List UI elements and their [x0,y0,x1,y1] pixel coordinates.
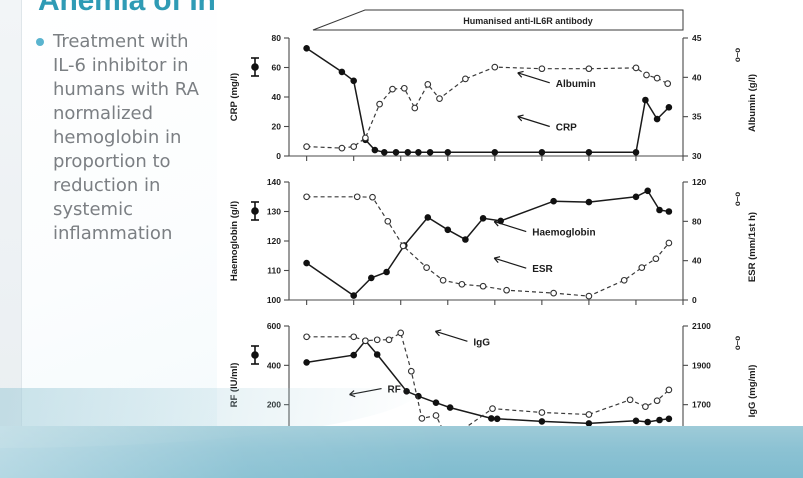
data-point-haemoglobin [657,207,663,213]
data-point-igg [386,337,392,343]
data-point-crp [339,69,345,75]
left-axis-tick-label: 120 [267,236,281,246]
data-point-rf [645,419,651,425]
left-series-legend-marker [251,346,259,364]
data-point-crp [643,97,649,103]
right-axis-label: Albumin (g/l) [747,74,758,132]
data-point-crp [381,149,387,155]
data-point-crp [416,149,422,155]
data-point-crp [304,45,310,51]
chart-panel-2: 100110120130140Haemoglobin (g/l)04080120… [229,177,758,305]
right-axis-label: IgG (mg/ml) [747,365,758,418]
data-point-igg [304,334,310,340]
data-point-albumin [665,81,671,87]
data-point-albumin [539,66,545,72]
annotation-arrow-albumin [518,73,550,83]
data-point-esr [639,265,645,271]
right-axis-tick-label: 45 [692,33,702,43]
data-point-albumin [377,101,383,107]
data-point-albumin [304,144,310,150]
left-series-legend-marker [251,58,259,76]
annotation-arrow-crp [518,117,550,127]
data-point-rf [433,400,439,406]
data-point-crp [633,149,639,155]
data-point-igg [351,334,357,340]
left-axis-tick-label: 0 [276,151,281,161]
data-point-igg [666,387,672,393]
right-axis-tick-label: 80 [692,216,702,226]
legend-filled-dot [252,208,259,215]
data-point-crp [427,149,433,155]
bullet-list: Treatment with IL-6 inhibitor in humans … [36,30,214,245]
data-point-igg [419,416,425,422]
left-axis-tick-label: 20 [272,122,282,132]
data-point-esr [480,283,486,289]
left-series-legend-marker [251,202,259,220]
right-axis-legend-symbol: o–o [733,48,742,62]
data-point-haemoglobin [384,269,390,275]
data-point-igg [409,368,415,374]
left-axis-tick-label: 60 [272,63,282,73]
data-point-haemoglobin [551,198,557,204]
data-point-esr [440,278,446,284]
right-axis-tick-label: 35 [692,112,702,122]
bullet-dot-icon [36,38,44,46]
data-point-igg [398,330,404,336]
right-axis-legend-symbol: o–o [733,336,742,350]
data-point-haemoglobin [351,293,357,299]
annotation-arrow-igg [435,331,467,341]
data-point-igg [586,412,592,418]
data-point-albumin [437,96,443,102]
data-point-albumin [633,65,639,71]
data-point-haemoglobin [480,215,486,221]
data-point-esr [666,240,672,246]
data-point-albumin [586,66,592,72]
data-point-rf [374,352,380,358]
slide-footer-band [0,426,803,478]
data-point-crp [666,104,672,110]
annotation-arrow-haemoglobin [494,222,526,232]
data-point-esr [354,194,360,200]
slide-footer-highlight [0,426,440,478]
data-point-haemoglobin [368,275,374,281]
series-line-crp [307,48,669,152]
data-point-haemoglobin [645,188,651,194]
data-point-igg [374,337,380,343]
left-axis-label: CRP (mg/l) [229,73,240,121]
data-point-albumin [402,86,408,92]
data-point-crp [654,116,660,122]
data-point-igg [627,397,633,403]
data-point-rf [657,417,663,423]
data-point-rf [539,419,545,425]
data-point-esr [385,219,391,225]
right-axis-tick-label: 40 [692,72,702,82]
data-point-esr [304,194,310,200]
data-point-haemoglobin [463,237,469,243]
annotation-label-haemoglobin: Haemoglobin [532,228,595,239]
data-point-rf [633,418,639,424]
data-point-igg [433,413,439,419]
data-point-crp [405,149,411,155]
legend-filled-dot [252,64,259,71]
left-axis-tick-label: 100 [267,295,281,305]
data-point-albumin [644,72,650,78]
right-axis-tick-label: 120 [692,177,706,187]
right-axis-tick-label: 2100 [692,321,711,331]
data-point-rf [447,405,453,411]
data-point-albumin [363,135,369,141]
data-point-esr [653,256,659,262]
data-point-rf [666,416,672,422]
data-point-haemoglobin [633,194,639,200]
data-point-crp [539,149,545,155]
right-axis-tick-label: 1700 [692,400,711,410]
data-point-crp [492,149,498,155]
data-point-esr [400,243,406,249]
treatment-banner: Humanised anti-IL6R antibody [313,10,683,30]
data-point-albumin [351,144,357,150]
data-point-rf [351,352,357,358]
left-axis-tick-label: 40 [272,92,282,102]
right-axis-label: ESR (mm/1st h) [747,212,758,282]
slide-canvas: Anemia of Inflammation Treatment with IL… [0,0,803,478]
data-point-haemoglobin [445,227,451,233]
chart-panel-1: 020406080CRP (mg/l)30354045Albumin (g/l)… [229,33,758,161]
data-point-rf [304,360,310,366]
data-point-albumin [492,64,498,70]
data-point-rf [494,416,500,422]
left-axis-tick-label: 130 [267,207,281,217]
data-point-albumin [390,86,396,92]
right-axis-tick-label: 40 [692,256,702,266]
right-axis-tick-label: 1900 [692,360,711,370]
left-axis-tick-label: 140 [267,177,281,187]
annotation-label-igg: IgG [473,337,490,348]
data-point-albumin [412,105,418,111]
data-point-esr [551,290,557,296]
data-point-crp [586,149,592,155]
annotation-label-esr: ESR [532,264,553,275]
data-point-haemoglobin [666,209,672,215]
data-point-igg [539,410,545,416]
series-line-igg [307,333,669,440]
data-point-crp [393,149,399,155]
left-axis-tick-label: 400 [267,360,281,370]
data-point-igg [654,398,660,404]
data-point-esr [621,278,627,284]
series-line-esr [307,197,669,296]
series-line-haemoglobin [307,191,669,296]
left-axis-tick-label: 110 [267,266,281,276]
data-point-albumin [339,145,345,151]
data-point-esr [370,194,376,200]
data-point-igg [643,404,649,410]
data-point-esr [459,282,465,288]
data-point-haemoglobin [304,260,310,266]
data-point-haemoglobin [586,199,592,205]
data-point-crp [445,149,451,155]
left-axis-tick-label: 80 [272,33,282,43]
data-point-esr [424,265,430,271]
data-point-igg [363,338,369,344]
data-point-albumin [425,82,431,88]
right-axis-legend-symbol: o–o [733,192,742,206]
left-axis-tick-label: 600 [267,321,281,331]
annotation-label-albumin: Albumin [556,79,596,90]
data-point-crp [372,147,378,153]
left-axis-label: Haemoglobin (g/l) [229,201,240,281]
bullet-item-text: Treatment with IL-6 inhibitor in humans … [53,30,214,245]
data-point-haemoglobin [425,215,431,221]
data-point-rf [488,416,494,422]
data-point-esr [504,287,510,293]
data-point-albumin [654,75,660,81]
banner-label: Humanised anti-IL6R antibody [463,16,593,26]
data-point-esr [586,293,592,299]
annotation-label-crp: CRP [556,123,577,134]
data-point-albumin [463,76,469,82]
annotation-arrow-esr [494,258,526,268]
series-line-albumin [307,67,668,148]
data-point-crp [351,78,357,84]
right-axis-tick-label: 30 [692,151,702,161]
right-axis-tick-label: 0 [692,295,697,305]
legend-filled-dot [252,352,259,359]
data-point-igg [490,406,496,412]
